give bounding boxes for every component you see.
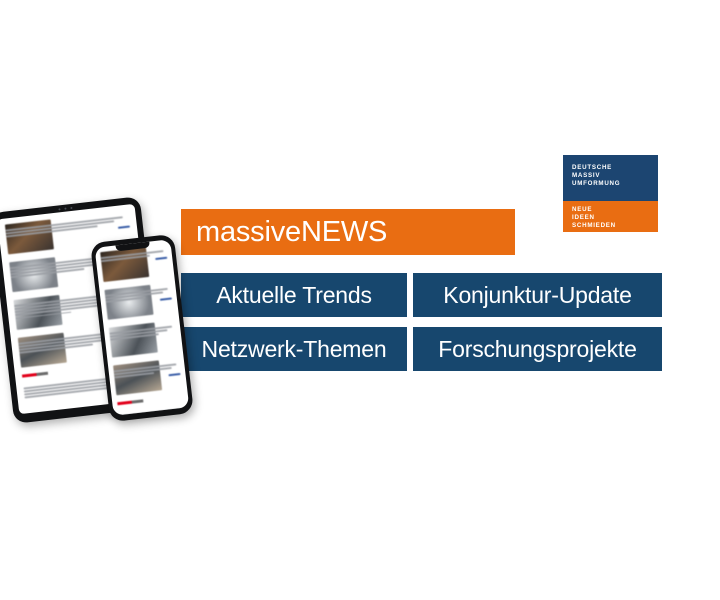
logo-line: IDEEN [572, 214, 658, 222]
phone-screen [95, 239, 190, 416]
poster-canvas: massiveNEWS Aktuelle Trends Konjunktur-U… [0, 0, 720, 600]
topic-button-label: Konjunktur-Update [443, 284, 631, 307]
logo-line: MASSIV [572, 172, 658, 180]
read-more-link[interactable] [155, 257, 167, 261]
topic-button-label: Aktuelle Trends [216, 284, 372, 307]
article-item [109, 319, 178, 359]
logo-line: DEUTSCHE [572, 164, 658, 172]
page-title: massiveNEWS [181, 218, 387, 247]
topic-button-netzwerk-themen[interactable]: Netzwerk-Themen [181, 327, 407, 371]
read-more-link[interactable] [168, 373, 180, 377]
topic-button-aktuelle-trends[interactable]: Aktuelle Trends [181, 273, 407, 317]
massivenews-banner: massiveNEWS [181, 209, 515, 255]
brand-rule [22, 372, 48, 378]
topic-button-label: Forschungsprojekte [438, 338, 636, 361]
dmu-logo: DEUTSCHE MASSIV UMFORMUNG NEUE IDEEN SCH… [563, 155, 658, 232]
topic-button-forschungsprojekte[interactable]: Forschungsprojekte [413, 327, 662, 371]
logo-line: SCHMIEDEN [572, 222, 658, 230]
tablet-camera-dots [58, 207, 72, 211]
logo-bottom-block: NEUE IDEEN SCHMIEDEN [563, 201, 658, 232]
topic-button-konjunktur-update[interactable]: Konjunktur-Update [413, 273, 662, 317]
logo-line: UMFORMUNG [572, 180, 658, 188]
topic-button-label: Netzwerk-Themen [202, 338, 387, 361]
read-more-link[interactable] [160, 297, 172, 301]
logo-top-block: DEUTSCHE MASSIV UMFORMUNG [563, 155, 658, 201]
device-mockups [0, 196, 200, 446]
article-item [104, 282, 173, 322]
read-more-link[interactable] [118, 225, 130, 229]
article-item [100, 244, 169, 284]
article-item [113, 357, 182, 397]
brand-rule [117, 399, 143, 405]
newsletter-page-phone [95, 239, 190, 416]
logo-line: NEUE [572, 206, 658, 214]
